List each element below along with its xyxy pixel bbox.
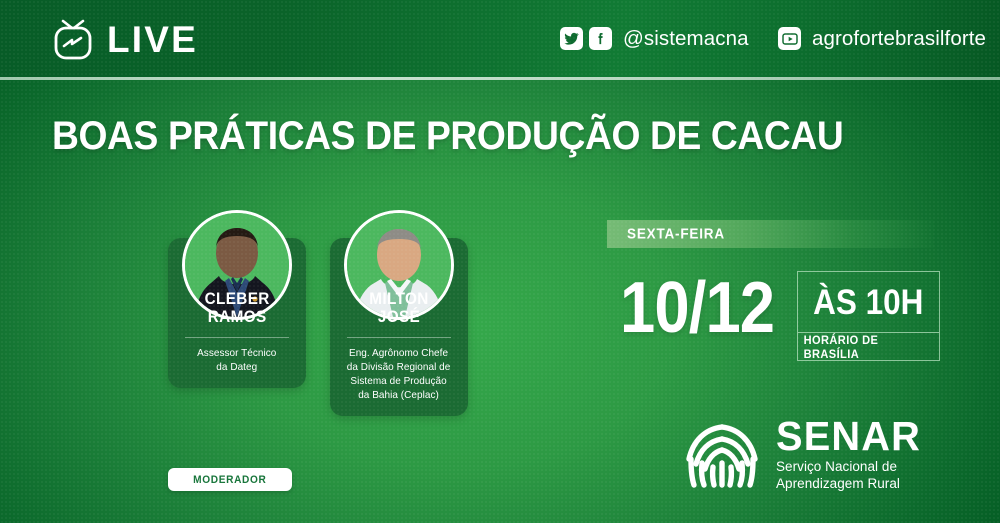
- senar-tagline: Serviço Nacional de Aprendizagem Rural: [776, 459, 926, 492]
- speaker-name-line1: CLEBER: [204, 289, 269, 308]
- speaker-role: Eng. Agrônomo Chefe da Divisão Regional …: [347, 347, 451, 403]
- speaker-role-line-2: da Divisão Regional de: [347, 361, 451, 373]
- header-divider: [0, 77, 1000, 80]
- event-timezone-label: HORÁRIO DE BRASÍLIA: [804, 333, 934, 361]
- facebook-icon[interactable]: [589, 27, 612, 50]
- social-handle-cna[interactable]: @sistemacna: [560, 0, 749, 77]
- speaker-role-line-1: Assessor Técnico: [197, 347, 276, 359]
- weekday-banner: SEXTA-FEIRA: [607, 220, 934, 248]
- speaker-role-line-4: da Bahia (Ceplac): [359, 389, 440, 401]
- senar-text-block: SENAR Serviço Nacional de Aprendizagem R…: [776, 416, 926, 493]
- speaker-card-cleber-ramos: CLEBER RAMOS Assessor Técnico da Dateg: [168, 238, 306, 388]
- speaker-name-line2: JOSÉ: [378, 307, 420, 326]
- live-event-poster: LIVE @sistemacna agrofortebrasilforte BO…: [0, 0, 1000, 523]
- speaker-role-line-3: Sistema de Produção: [351, 375, 447, 387]
- speaker-name-line1: MILTON: [369, 289, 428, 308]
- event-timezone: HORÁRIO DE BRASÍLIA: [798, 333, 939, 360]
- speaker-card-milton-jose: MILTON JOSÉ Eng. Agrônomo Chefe da Divis…: [330, 238, 468, 416]
- page-title: BOAS PRÁTICAS DE PRODUÇÃO DE CACAU: [52, 116, 843, 156]
- senar-tagline-line1: Serviço Nacional de: [776, 459, 897, 474]
- status-badge-moderador: MODERADOR: [168, 468, 292, 491]
- speaker-role: Assessor Técnico da Dateg: [197, 347, 276, 375]
- speaker-name: CLEBER RAMOS: [204, 290, 269, 326]
- igtv-icon: [52, 17, 94, 61]
- youtube-icon[interactable]: [778, 27, 801, 50]
- speaker-name-line2: RAMOS: [208, 307, 267, 326]
- speaker-role-line-2: da Dateg: [217, 361, 258, 373]
- speaker-name: MILTON JOSÉ: [369, 290, 428, 326]
- live-badge: LIVE: [52, 17, 198, 61]
- live-label: LIVE: [107, 21, 198, 58]
- event-time-label: ÀS 10H: [813, 285, 923, 320]
- twitter-icon[interactable]: [560, 27, 583, 50]
- moderator-label: MODERADOR: [193, 474, 266, 486]
- card-divider: [347, 337, 451, 338]
- cna-handle-text: @sistemacna: [623, 27, 749, 51]
- youtube-handle-text: agrofortebrasilforte: [812, 27, 986, 51]
- weekday-label: SEXTA-FEIRA: [627, 226, 725, 243]
- event-time-main: ÀS 10H: [798, 272, 939, 333]
- senar-weave-icon: [683, 419, 761, 489]
- senar-logo: SENAR Serviço Nacional de Aprendizagem R…: [683, 416, 926, 493]
- senar-wordmark: SENAR: [776, 416, 921, 456]
- social-handle-youtube[interactable]: agrofortebrasilforte: [778, 0, 986, 77]
- card-divider: [185, 337, 289, 338]
- senar-tagline-line2: Aprendizagem Rural: [776, 476, 900, 491]
- speaker-role-line-1: Eng. Agrônomo Chefe: [349, 347, 448, 359]
- event-date: 10/12: [620, 272, 774, 344]
- event-time-box: ÀS 10H HORÁRIO DE BRASÍLIA: [797, 271, 940, 361]
